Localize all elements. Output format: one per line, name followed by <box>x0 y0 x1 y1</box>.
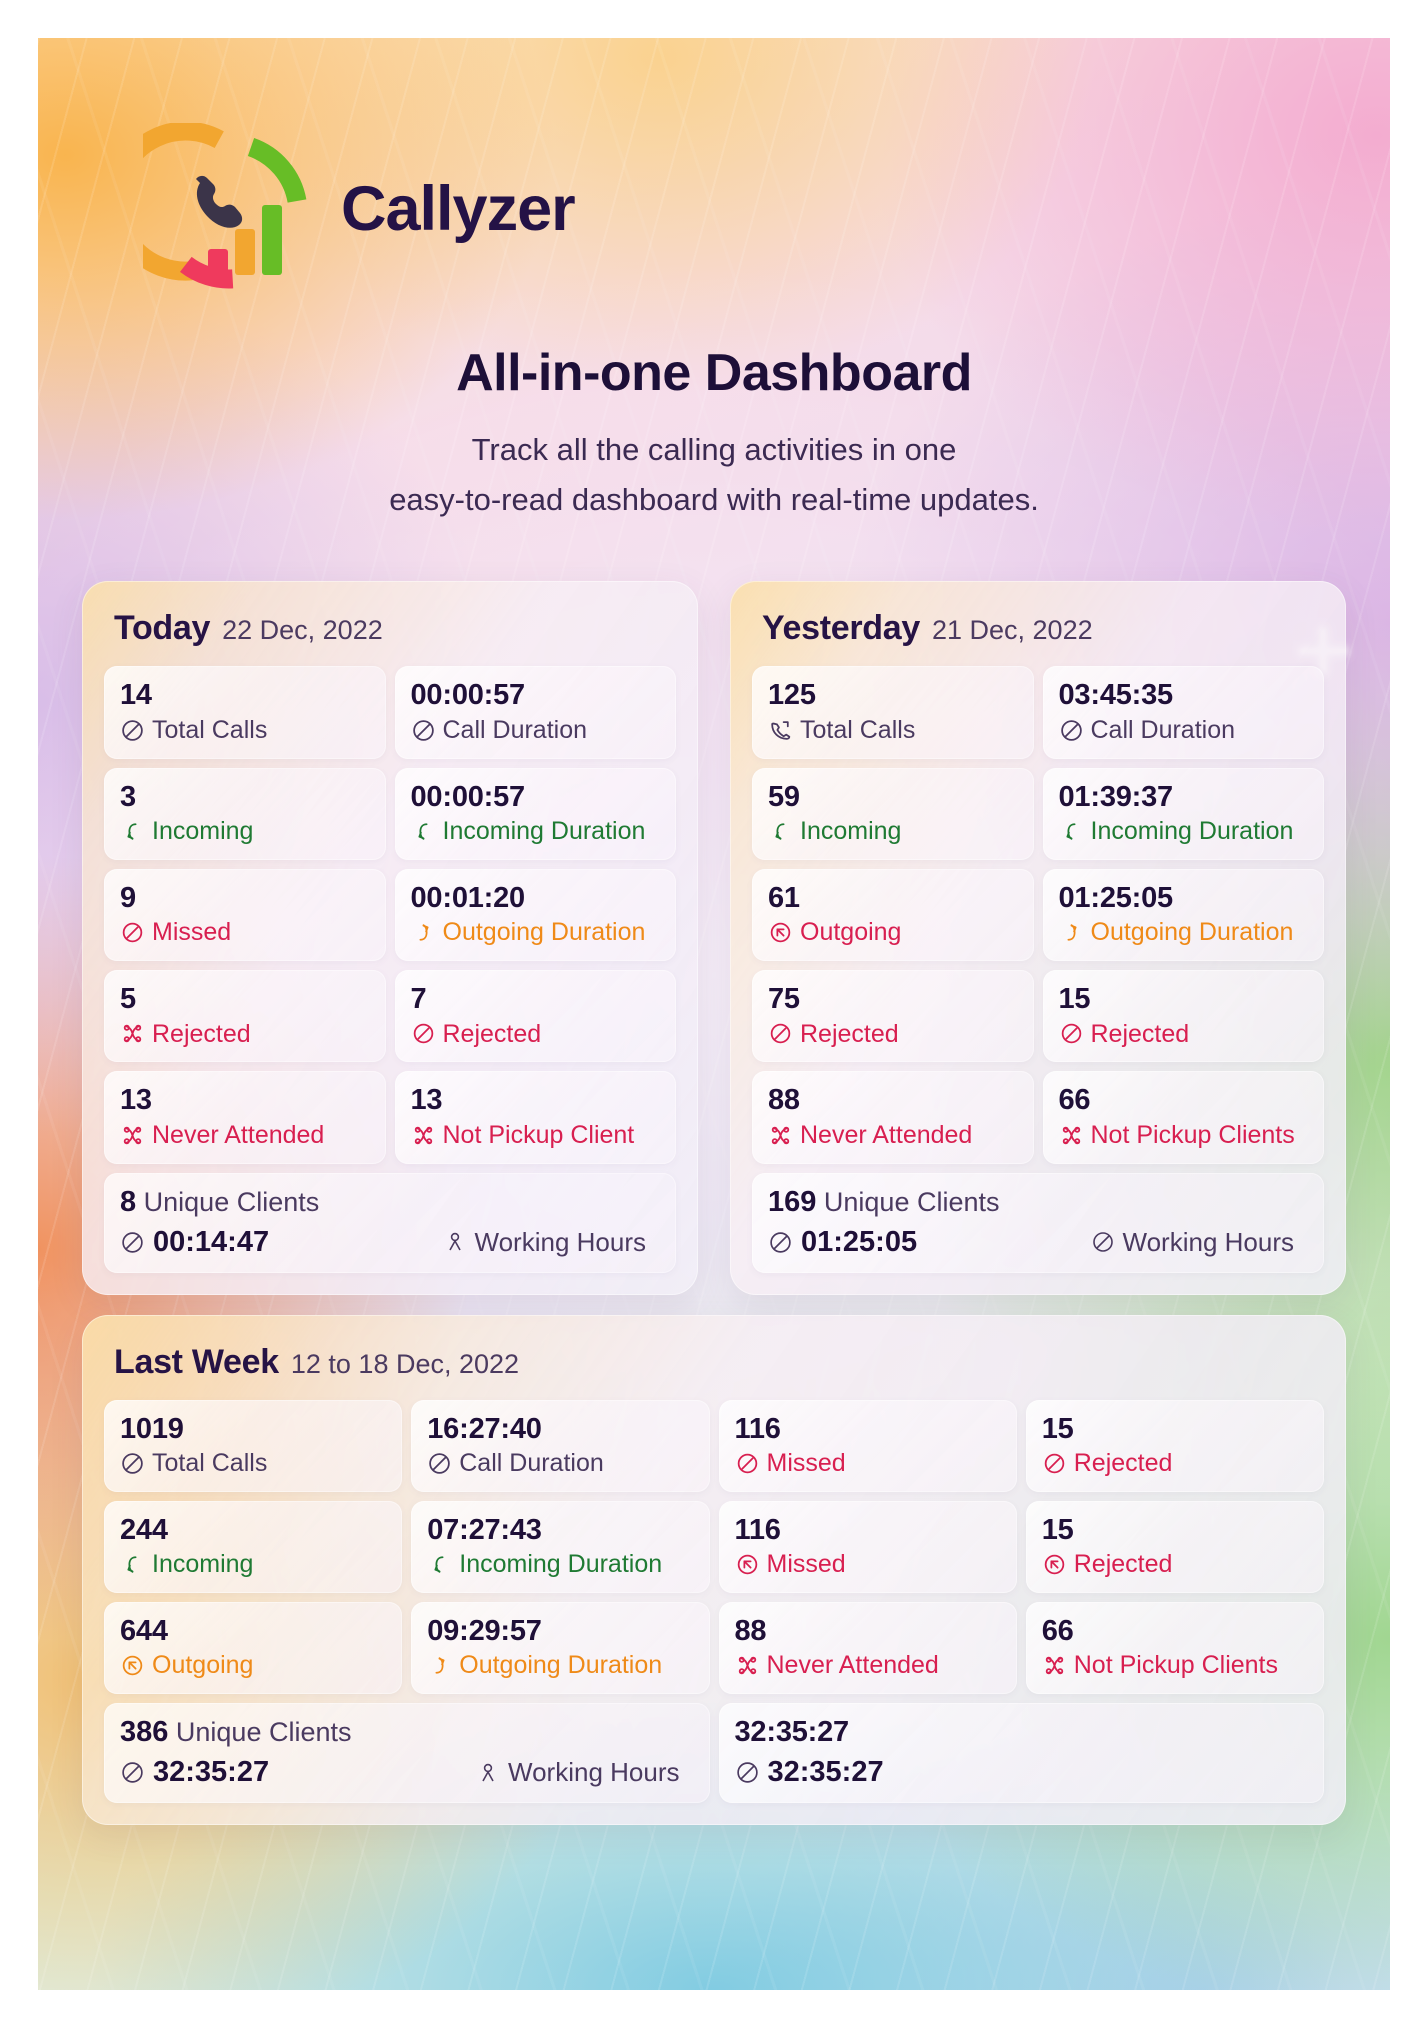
metric-value: 15 <box>1059 983 1309 1015</box>
card-last-week-date: 12 to 18 Dec, 2022 <box>291 1349 519 1380</box>
rejected-cross-icon <box>1059 1123 1084 1148</box>
metric-value: 7 <box>411 983 661 1015</box>
metric-label: Call Duration <box>459 1449 604 1478</box>
page-subtitle-line-1: Track all the calling activities in one <box>38 425 1390 475</box>
metric-tile: 01:39:37Incoming Duration <box>1043 768 1325 860</box>
metric-value: 116 <box>735 1413 1001 1445</box>
card-today-title: Today <box>114 609 210 648</box>
metric-tile: 61Outgoing <box>752 869 1034 961</box>
metric-value: 644 <box>120 1615 386 1647</box>
metric-tile: 15Rejected <box>1026 1400 1324 1492</box>
metric-tile: 00:00:57Call Duration <box>395 666 677 758</box>
metric-label-row: Missed <box>120 918 370 947</box>
clock-icon <box>768 1230 793 1255</box>
card-yesterday-tiles: 125Total Calls03:45:35Call Duration59Inc… <box>752 666 1324 1163</box>
metric-label-row: Total Calls <box>120 716 370 745</box>
metric-label: Rejected <box>800 1020 899 1049</box>
metric-value: 125 <box>768 679 1018 711</box>
phone-icon <box>768 718 793 743</box>
metric-label: Incoming Duration <box>443 817 646 846</box>
missed-circle-icon <box>768 1021 793 1046</box>
metric-label-row: Not Pickup Clients <box>1059 1121 1309 1150</box>
metric-label-row: Rejected <box>1059 1020 1309 1049</box>
incoming-arrow-icon <box>427 1552 452 1577</box>
card-last-week-right-duration: 32:35:27 <box>735 1756 884 1789</box>
metric-label: Rejected <box>1074 1550 1173 1579</box>
metric-label-row: Outgoing <box>768 918 1018 947</box>
metric-value: 9 <box>120 882 370 914</box>
metric-tile: 15Rejected <box>1026 1501 1324 1593</box>
rejected-cross-icon <box>1042 1653 1067 1678</box>
clock-icon <box>120 1230 145 1255</box>
metric-tile: 00:00:57Incoming Duration <box>395 768 677 860</box>
metric-value: 66 <box>1042 1615 1308 1647</box>
outgoing-arrow-icon <box>427 1653 452 1678</box>
metric-label-row: Call Duration <box>411 716 661 745</box>
incoming-arrow-icon <box>1059 819 1084 844</box>
card-last-week-unique-clients: 386 Unique Clients <box>120 1716 694 1749</box>
card-last-week-right-duration-value: 32:35:27 <box>768 1756 884 1789</box>
metric-tile: 15Rejected <box>1043 970 1325 1062</box>
metric-label: Call Duration <box>1091 716 1236 745</box>
missed-circle-icon <box>1059 1021 1084 1046</box>
metric-label: Missed <box>767 1449 846 1478</box>
metric-value: 88 <box>768 1084 1018 1116</box>
card-yesterday-title: Yesterday <box>762 609 920 648</box>
metric-label-row: Missed <box>735 1449 1001 1478</box>
rejected-cross-icon <box>120 1123 145 1148</box>
metric-label: Not Pickup Clients <box>1074 1651 1278 1680</box>
card-last-week-right-value: 32:35:27 <box>735 1716 1309 1748</box>
card-today-header: Today 22 Dec, 2022 <box>104 603 676 666</box>
metric-label: Incoming <box>152 1550 253 1579</box>
card-yesterday-summary: 169 Unique Clients 01:25:05 <box>752 1173 1324 1273</box>
metric-label: Not Pickup Clients <box>1091 1121 1295 1150</box>
metric-tile: 66Not Pickup Clients <box>1026 1602 1324 1694</box>
metric-label-row: Incoming <box>120 1550 386 1579</box>
metric-label: Total Calls <box>800 716 915 745</box>
card-yesterday-unique-value: 169 <box>768 1186 816 1218</box>
metric-label: Outgoing <box>152 1651 253 1680</box>
metric-label-row: Incoming Duration <box>1059 817 1309 846</box>
metric-label-row: Outgoing Duration <box>427 1651 693 1680</box>
card-today-working-hours: Working Hours <box>443 1227 660 1258</box>
metric-tile: 116Missed <box>719 1400 1017 1492</box>
missed-circle-icon <box>735 1451 760 1476</box>
metric-value: 88 <box>735 1615 1001 1647</box>
metric-tile: 9Missed <box>104 869 386 961</box>
metric-label: Incoming <box>800 817 901 846</box>
card-last-week-unique-label: Unique Clients <box>176 1717 352 1747</box>
card-today-working-duration: 00:14:47 <box>120 1226 269 1259</box>
clock-icon <box>411 718 436 743</box>
brand-name: Callyzer <box>341 173 575 245</box>
metric-tile: 13Never Attended <box>104 1071 386 1163</box>
metric-label-row: Incoming Duration <box>427 1550 693 1579</box>
metric-value: 15 <box>1042 1514 1308 1546</box>
clock-icon <box>427 1451 452 1476</box>
incoming-arrow-icon <box>120 819 145 844</box>
metric-label-row: Call Duration <box>1059 716 1309 745</box>
card-last-week-summary: 386 Unique Clients 32:35:27 <box>104 1703 710 1803</box>
metric-label: Incoming Duration <box>1091 817 1294 846</box>
card-last-week-duration-value: 32:35:27 <box>153 1756 269 1789</box>
metric-value: 13 <box>120 1084 370 1116</box>
card-last-week-title: Last Week <box>114 1343 279 1382</box>
metric-value: 13 <box>411 1084 661 1116</box>
card-today-tiles: 14Total Calls00:00:57Call Duration3Incom… <box>104 666 676 1163</box>
callyzer-logo-icon <box>143 123 315 295</box>
metric-value: 61 <box>768 882 1018 914</box>
clock-icon <box>120 1760 145 1785</box>
metric-label: Total Calls <box>152 716 267 745</box>
card-yesterday-header: Yesterday 21 Dec, 2022 <box>752 603 1324 666</box>
missed-circle-icon <box>120 920 145 945</box>
metric-value: 5 <box>120 983 370 1015</box>
card-yesterday-working-duration: 01:25:05 <box>768 1226 917 1259</box>
metric-value: 66 <box>1059 1084 1309 1116</box>
metric-value: 00:00:57 <box>411 781 661 813</box>
metric-label-row: Incoming Duration <box>411 817 661 846</box>
rejected-cross-icon <box>411 1123 436 1148</box>
metric-label: Incoming <box>152 817 253 846</box>
metric-tile: 07:27:43Incoming Duration <box>411 1501 709 1593</box>
metric-tile: 00:01:20Outgoing Duration <box>395 869 677 961</box>
metric-label-row: Outgoing Duration <box>411 918 661 947</box>
brand-header: Callyzer <box>38 38 1390 295</box>
metric-label-row: Rejected <box>1042 1449 1308 1478</box>
metric-tile: 88Never Attended <box>752 1071 1034 1163</box>
rejected-cross-icon <box>120 1021 145 1046</box>
metric-label: Outgoing Duration <box>459 1651 662 1680</box>
metric-tile: 88Never Attended <box>719 1602 1017 1694</box>
metric-tile: 3Incoming <box>104 768 386 860</box>
metric-value: 3 <box>120 781 370 813</box>
metric-value: 01:39:37 <box>1059 781 1309 813</box>
metric-tile: 1019Total Calls <box>104 1400 402 1492</box>
card-today-unique-clients: 8 Unique Clients <box>120 1186 660 1219</box>
metric-tile: 7Rejected <box>395 970 677 1062</box>
metric-value: 116 <box>735 1514 1001 1546</box>
metric-value: 03:45:35 <box>1059 679 1309 711</box>
metric-label: Not Pickup Client <box>443 1121 635 1150</box>
metric-label-row: Never Attended <box>768 1121 1018 1150</box>
poster-content: Callyzer All-in-one Dashboard Track all … <box>38 38 1390 1990</box>
poster-root: Callyzer All-in-one Dashboard Track all … <box>0 0 1428 2028</box>
card-last-week-unique-value: 386 <box>120 1716 168 1748</box>
metric-tile: 75Rejected <box>752 970 1034 1062</box>
outgoing-curve-icon <box>768 920 793 945</box>
metric-label-row: Rejected <box>120 1020 370 1049</box>
card-yesterday-working-hours: Working Hours <box>1091 1227 1308 1258</box>
metric-label: Total Calls <box>152 1449 267 1478</box>
metric-label-row: Total Calls <box>768 716 1018 745</box>
card-yesterday-unique-clients: 169 Unique Clients <box>768 1186 1308 1219</box>
metric-value: 15 <box>1042 1413 1308 1445</box>
metric-label-row: Total Calls <box>120 1449 386 1478</box>
card-today-summary: 8 Unique Clients 00:14:47 <box>104 1173 676 1273</box>
card-last-week: Last Week 12 to 18 Dec, 2022 1019Total C… <box>82 1315 1346 1826</box>
card-last-week-header: Last Week 12 to 18 Dec, 2022 <box>104 1337 1324 1400</box>
metric-value: 09:29:57 <box>427 1615 693 1647</box>
card-yesterday-working-hours-label: Working Hours <box>1123 1227 1294 1258</box>
outgoing-arrow-icon <box>1059 920 1084 945</box>
card-today-duration-value: 00:14:47 <box>153 1226 269 1259</box>
metric-value: 1019 <box>120 1413 386 1445</box>
outgoing-curve-icon <box>120 1653 145 1678</box>
metric-tile: 644Outgoing <box>104 1602 402 1694</box>
metric-label-row: Outgoing <box>120 1651 386 1680</box>
card-today-unique-label: Unique Clients <box>144 1187 320 1217</box>
metric-label: Never Attended <box>800 1121 972 1150</box>
metric-label-row: Never Attended <box>735 1651 1001 1680</box>
metric-tile: 09:29:57Outgoing Duration <box>411 1602 709 1694</box>
rejected-cross-icon <box>735 1653 760 1678</box>
metric-label-row: Not Pickup Clients <box>1042 1651 1308 1680</box>
metric-value: 00:00:57 <box>411 679 661 711</box>
clock-icon <box>735 1760 760 1785</box>
metric-label: Never Attended <box>767 1651 939 1680</box>
card-last-week-summary-row: 386 Unique Clients 32:35:27 <box>104 1703 1324 1803</box>
metric-tile: 14Total Calls <box>104 666 386 758</box>
card-last-week-working-hours-label: Working Hours <box>508 1757 679 1788</box>
clock-icon <box>1091 1230 1115 1254</box>
metric-label: Rejected <box>152 1020 251 1049</box>
metric-label: Outgoing Duration <box>1091 918 1294 947</box>
metric-label: Call Duration <box>443 716 588 745</box>
outgoing-arrow-icon <box>411 920 436 945</box>
metric-label: Incoming Duration <box>459 1550 662 1579</box>
card-last-week-working-hours: Working Hours <box>476 1757 693 1788</box>
missed-circle-icon <box>411 1021 436 1046</box>
dashboard-cards-bottom-row: Last Week 12 to 18 Dec, 2022 1019Total C… <box>38 1295 1390 1826</box>
metric-tile: 125Total Calls <box>752 666 1034 758</box>
incoming-arrow-icon <box>768 819 793 844</box>
metric-tile: 16:27:40Call Duration <box>411 1400 709 1492</box>
outgoing-curve-icon <box>735 1552 760 1577</box>
metric-label-row: Rejected <box>1042 1550 1308 1579</box>
metric-label-row: Call Duration <box>427 1449 693 1478</box>
metric-value: 59 <box>768 781 1018 813</box>
metric-value: 75 <box>768 983 1018 1015</box>
outgoing-curve-icon <box>1042 1552 1067 1577</box>
metric-tile: 5Rejected <box>104 970 386 1062</box>
metric-value: 16:27:40 <box>427 1413 693 1445</box>
metric-tile: 59Incoming <box>752 768 1034 860</box>
metric-label-row: Missed <box>735 1550 1001 1579</box>
metric-tile: 01:25:05Outgoing Duration <box>1043 869 1325 961</box>
metric-tile: 13Not Pickup Client <box>395 1071 677 1163</box>
page-subtitle: Track all the calling activities in one … <box>38 425 1390 525</box>
card-today: Today 22 Dec, 2022 14Total Calls00:00:57… <box>82 581 698 1294</box>
metric-value: 07:27:43 <box>427 1514 693 1546</box>
metric-label-row: Rejected <box>411 1020 661 1049</box>
metric-label-row: Incoming <box>768 817 1018 846</box>
metric-tile: 116Missed <box>719 1501 1017 1593</box>
card-today-working-hours-label: Working Hours <box>475 1227 646 1258</box>
metric-value: 01:25:05 <box>1059 882 1309 914</box>
metric-label-row: Rejected <box>768 1020 1018 1049</box>
card-last-week-tiles: 1019Total Calls16:27:40Call Duration116M… <box>104 1400 1324 1695</box>
dashboard-cards-top-row: Today 22 Dec, 2022 14Total Calls00:00:57… <box>38 525 1390 1294</box>
metric-value: 00:01:20 <box>411 882 661 914</box>
missed-circle-icon <box>1042 1451 1067 1476</box>
metric-label-row: Outgoing Duration <box>1059 918 1309 947</box>
person-icon <box>443 1230 467 1254</box>
card-last-week-working-duration: 32:35:27 <box>120 1756 269 1789</box>
metric-tile: 03:45:35Call Duration <box>1043 666 1325 758</box>
card-today-unique-value: 8 <box>120 1186 136 1218</box>
incoming-arrow-icon <box>120 1552 145 1577</box>
metric-value: 14 <box>120 679 370 711</box>
metric-tile: 244Incoming <box>104 1501 402 1593</box>
card-yesterday-date: 21 Dec, 2022 <box>932 615 1093 646</box>
card-last-week-summary-right: 32:35:27 32:35:27 <box>719 1703 1325 1803</box>
rejected-cross-icon <box>768 1123 793 1148</box>
metric-value: 244 <box>120 1514 386 1546</box>
metric-label: Missed <box>767 1550 846 1579</box>
card-yesterday: Yesterday 21 Dec, 2022 125Total Calls03:… <box>730 581 1346 1294</box>
metric-label: Never Attended <box>152 1121 324 1150</box>
clock-icon <box>120 1451 145 1476</box>
page-subtitle-line-2: easy-to-read dashboard with real-time up… <box>38 475 1390 525</box>
card-today-date: 22 Dec, 2022 <box>222 615 383 646</box>
metric-label: Rejected <box>1091 1020 1190 1049</box>
metric-label: Outgoing <box>800 918 901 947</box>
person-icon <box>476 1761 500 1785</box>
metric-label: Missed <box>152 918 231 947</box>
metric-label: Rejected <box>1074 1449 1173 1478</box>
metric-label: Rejected <box>443 1020 542 1049</box>
card-yesterday-duration-value: 01:25:05 <box>801 1226 917 1259</box>
card-yesterday-unique-label: Unique Clients <box>824 1187 1000 1217</box>
metric-label-row: Not Pickup Client <box>411 1121 661 1150</box>
metric-label: Outgoing Duration <box>443 918 646 947</box>
metric-tile: 66Not Pickup Clients <box>1043 1071 1325 1163</box>
incoming-arrow-icon <box>411 819 436 844</box>
page-title: All-in-one Dashboard <box>38 343 1390 403</box>
clock-icon <box>1059 718 1084 743</box>
clock-icon <box>120 718 145 743</box>
metric-label-row: Incoming <box>120 817 370 846</box>
metric-label-row: Never Attended <box>120 1121 370 1150</box>
